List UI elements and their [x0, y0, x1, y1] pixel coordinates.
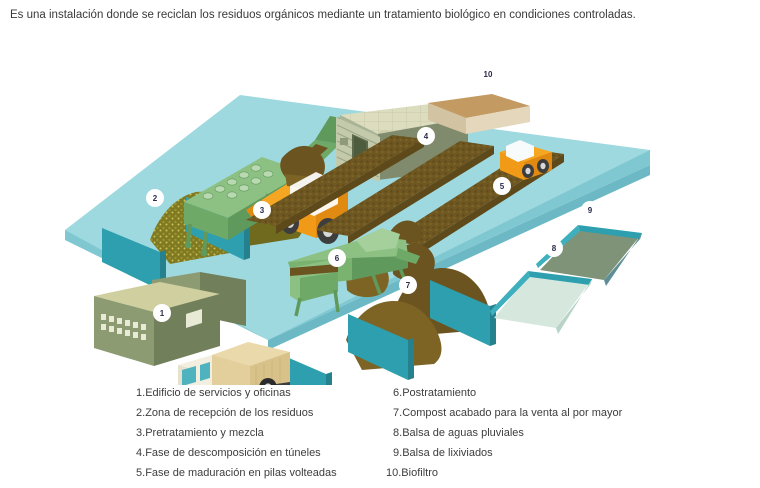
legend: 1.Edificio de servicios y oficinas 2.Zon…: [0, 383, 760, 483]
legend-item-2-number: 2.: [136, 407, 145, 419]
legend-item-4: 4.Fase de descomposición en túneles: [136, 443, 386, 463]
marker-3[interactable]: 3: [253, 201, 271, 219]
legend-item-4-number: 4.: [136, 447, 145, 459]
legend-item-10-number: 10.: [386, 467, 401, 479]
legend-item-3-number: 3.: [136, 427, 145, 439]
stormwater-pond-zone-8: [490, 271, 592, 334]
marker-9-label: 9: [588, 206, 593, 215]
intro-paragraph: Es una instalación donde se reciclan los…: [10, 8, 750, 23]
legend-item-9-label: Balsa de lixiviados: [402, 447, 493, 459]
legend-item-2-label: Zona de recepción de los residuos: [145, 407, 313, 419]
legend-item-3: 3.Pretratamiento y mezcla: [136, 423, 386, 443]
legend-item-6-number: 6.: [393, 387, 402, 399]
marker-8[interactable]: 8: [545, 239, 563, 257]
legend-item-10-label: Biofiltro: [401, 467, 438, 479]
marker-9[interactable]: 9: [581, 201, 599, 219]
legend-item-8: 8.Balsa de aguas pluviales: [393, 423, 693, 443]
legend-item-9-number: 9.: [393, 447, 402, 459]
legend-item-7-label: Compost acabado para la venta al por may…: [402, 407, 622, 419]
marker-4-label: 4: [424, 132, 429, 141]
marker-5[interactable]: 5: [493, 177, 511, 195]
legend-item-8-number: 8.: [393, 427, 402, 439]
legend-item-1-label: Edificio de servicios y oficinas: [145, 387, 291, 399]
legend-column-right: 6.Postratamiento 7.Compost acabado para …: [393, 383, 693, 483]
legend-item-2: 2.Zona de recepción de los residuos: [136, 403, 386, 423]
marker-4[interactable]: 4: [417, 127, 435, 145]
legend-item-8-label: Balsa de aguas pluviales: [402, 427, 524, 439]
legend-column-left: 1.Edificio de servicios y oficinas 2.Zon…: [136, 383, 386, 483]
marker-2[interactable]: 2: [146, 189, 164, 207]
marker-6[interactable]: 6: [328, 249, 346, 267]
marker-1-label: 1: [160, 309, 165, 318]
marker-7-label: 7: [406, 281, 411, 290]
legend-item-5-label: Fase de maduración en pilas volteadas: [145, 467, 336, 479]
legend-item-3-label: Pretratamiento y mezcla: [145, 427, 264, 439]
legend-item-10: 10.Biofiltro: [386, 463, 693, 483]
legend-item-5-number: 5.: [136, 467, 145, 479]
marker-3-label: 3: [260, 206, 265, 215]
compost-plant-diagram: 1 2 3 4 5 6 7 8: [0, 40, 760, 385]
legend-item-6-label: Postratamiento: [402, 387, 476, 399]
legend-item-5: 5.Fase de maduración en pilas volteadas: [136, 463, 386, 483]
marker-10[interactable]: 10: [477, 66, 499, 83]
diagram-svg: 1 2 3 4 5 6 7 8: [0, 40, 760, 385]
legend-item-1: 1.Edificio de servicios y oficinas: [136, 383, 386, 403]
marker-1[interactable]: 1: [153, 304, 171, 322]
marker-5-label: 5: [500, 182, 505, 191]
legend-item-7-number: 7.: [393, 407, 402, 419]
legend-item-9: 9.Balsa de lixiviados: [393, 443, 693, 463]
marker-8-label: 8: [552, 244, 557, 253]
legend-item-4-label: Fase de descomposición en túneles: [145, 447, 321, 459]
marker-2-label: 2: [153, 194, 158, 203]
legend-item-6: 6.Postratamiento: [393, 383, 693, 403]
marker-6-label: 6: [335, 254, 340, 263]
marker-7[interactable]: 7: [399, 276, 417, 294]
legend-item-7: 7.Compost acabado para la venta al por m…: [393, 403, 693, 423]
marker-10-label: 10: [484, 70, 493, 79]
legend-item-1-number: 1.: [136, 387, 145, 399]
